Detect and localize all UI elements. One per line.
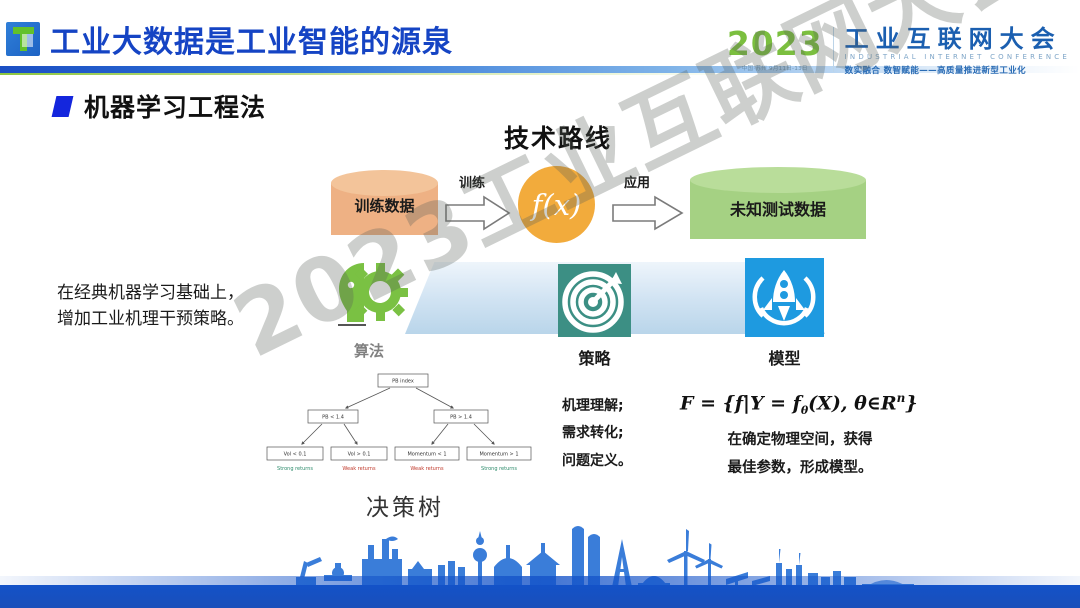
svg-text:Strong returns: Strong returns	[277, 466, 313, 472]
test-data-cylinder: 未知测试数据	[690, 167, 866, 239]
train-arrow-icon	[444, 194, 512, 232]
page-title: 工业大数据是工业智能的源泉	[50, 17, 453, 61]
apply-arrow-label: 应用	[624, 172, 650, 191]
formula-note: 在确定物理空间，获得 最佳参数，形成模型。	[686, 426, 914, 483]
svg-text:Weak returns: Weak returns	[342, 466, 376, 472]
train-arrow-label: 训练	[459, 172, 485, 191]
target-bullseye-icon	[558, 264, 631, 337]
conference-slogan: 数实融合 数智赋能——高质量推进新型工业化	[845, 64, 1070, 76]
cylinder-top	[331, 170, 438, 196]
conference-name-cn: 工业互联网大会	[845, 27, 1070, 52]
strategy-caption: 策略	[558, 345, 631, 369]
svg-text:Weak returns: Weak returns	[410, 466, 444, 472]
rocket-launch-icon	[745, 258, 824, 337]
training-data-label: 训练数据	[331, 195, 438, 216]
formula-head: F = {f|Y = f	[680, 392, 801, 414]
section-heading-label: 机器学习工程法	[84, 88, 266, 124]
svg-text:Vol > 0.1: Vol > 0.1	[348, 452, 371, 458]
slide-header: 工业大数据是工业智能的源泉 2023 中国·苏州 9月11日-13日 工业互联网…	[0, 0, 1080, 78]
training-data-cylinder: 训练数据	[331, 170, 438, 235]
svg-text:Momentum > 1: Momentum > 1	[479, 452, 518, 458]
svg-text:Vol < 0.1: Vol < 0.1	[284, 452, 307, 458]
decision-tree-figure: PB index PB < 1.4 PB > 1.4 Vol < 0.1 Vol…	[258, 368, 548, 488]
conference-name-block: 工业互联网大会 INDUSTRIAL INTERNET CONFERENCE 数…	[834, 27, 1070, 76]
section-heading: 机器学习工程法	[54, 88, 266, 124]
svg-text:PB < 1.4: PB < 1.4	[322, 415, 344, 421]
test-data-label: 未知测试数据	[690, 196, 866, 220]
conference-name-en: INDUSTRIAL INTERNET CONFERENCE	[845, 53, 1070, 61]
apply-arrow-icon	[611, 194, 685, 232]
mechanism-list: 机理理解; 需求转化; 问题定义。	[562, 393, 632, 475]
function-node: f(x)	[518, 166, 595, 243]
algorithm-caption: 算法	[330, 340, 408, 361]
parallelogram-bullet-icon	[52, 96, 74, 117]
function-label: f(x)	[532, 188, 582, 222]
body-note-text: 在经典机器学习基础上， 增加工业机理干预策略。	[57, 280, 244, 333]
conference-date: 中国·苏州 9月11日-13日	[727, 64, 823, 72]
brand-t-icon	[6, 22, 40, 56]
svg-text:PB > 1.4: PB > 1.4	[450, 415, 472, 421]
conference-logo: 2023 中国·苏州 9月11日-13日 工业互联网大会 INDUSTRIAL …	[727, 27, 1070, 76]
svg-text:Strong returns: Strong returns	[481, 466, 517, 472]
formula-tail: }	[905, 392, 917, 414]
slide-canvas: 工业大数据是工业智能的源泉 2023 中国·苏州 9月11日-13日 工业互联网…	[0, 0, 1080, 608]
model-formula: F = {f|Y = fθ(X), θ∈Rn}	[680, 391, 918, 417]
cylinder-top	[690, 167, 866, 193]
conference-year: 2023	[727, 27, 823, 60]
diagram-title: 技术路线	[504, 119, 612, 155]
svg-text:PB index: PB index	[392, 379, 414, 385]
model-caption: 模型	[745, 345, 824, 369]
conference-year-block: 2023 中国·苏州 9月11日-13日	[727, 27, 834, 72]
algorithm-head-gear-icon	[330, 258, 408, 330]
svg-text:Momentum < 1: Momentum < 1	[407, 452, 446, 458]
footer-band	[0, 585, 1080, 608]
formula-middle: (X), θ∈R	[808, 392, 896, 414]
